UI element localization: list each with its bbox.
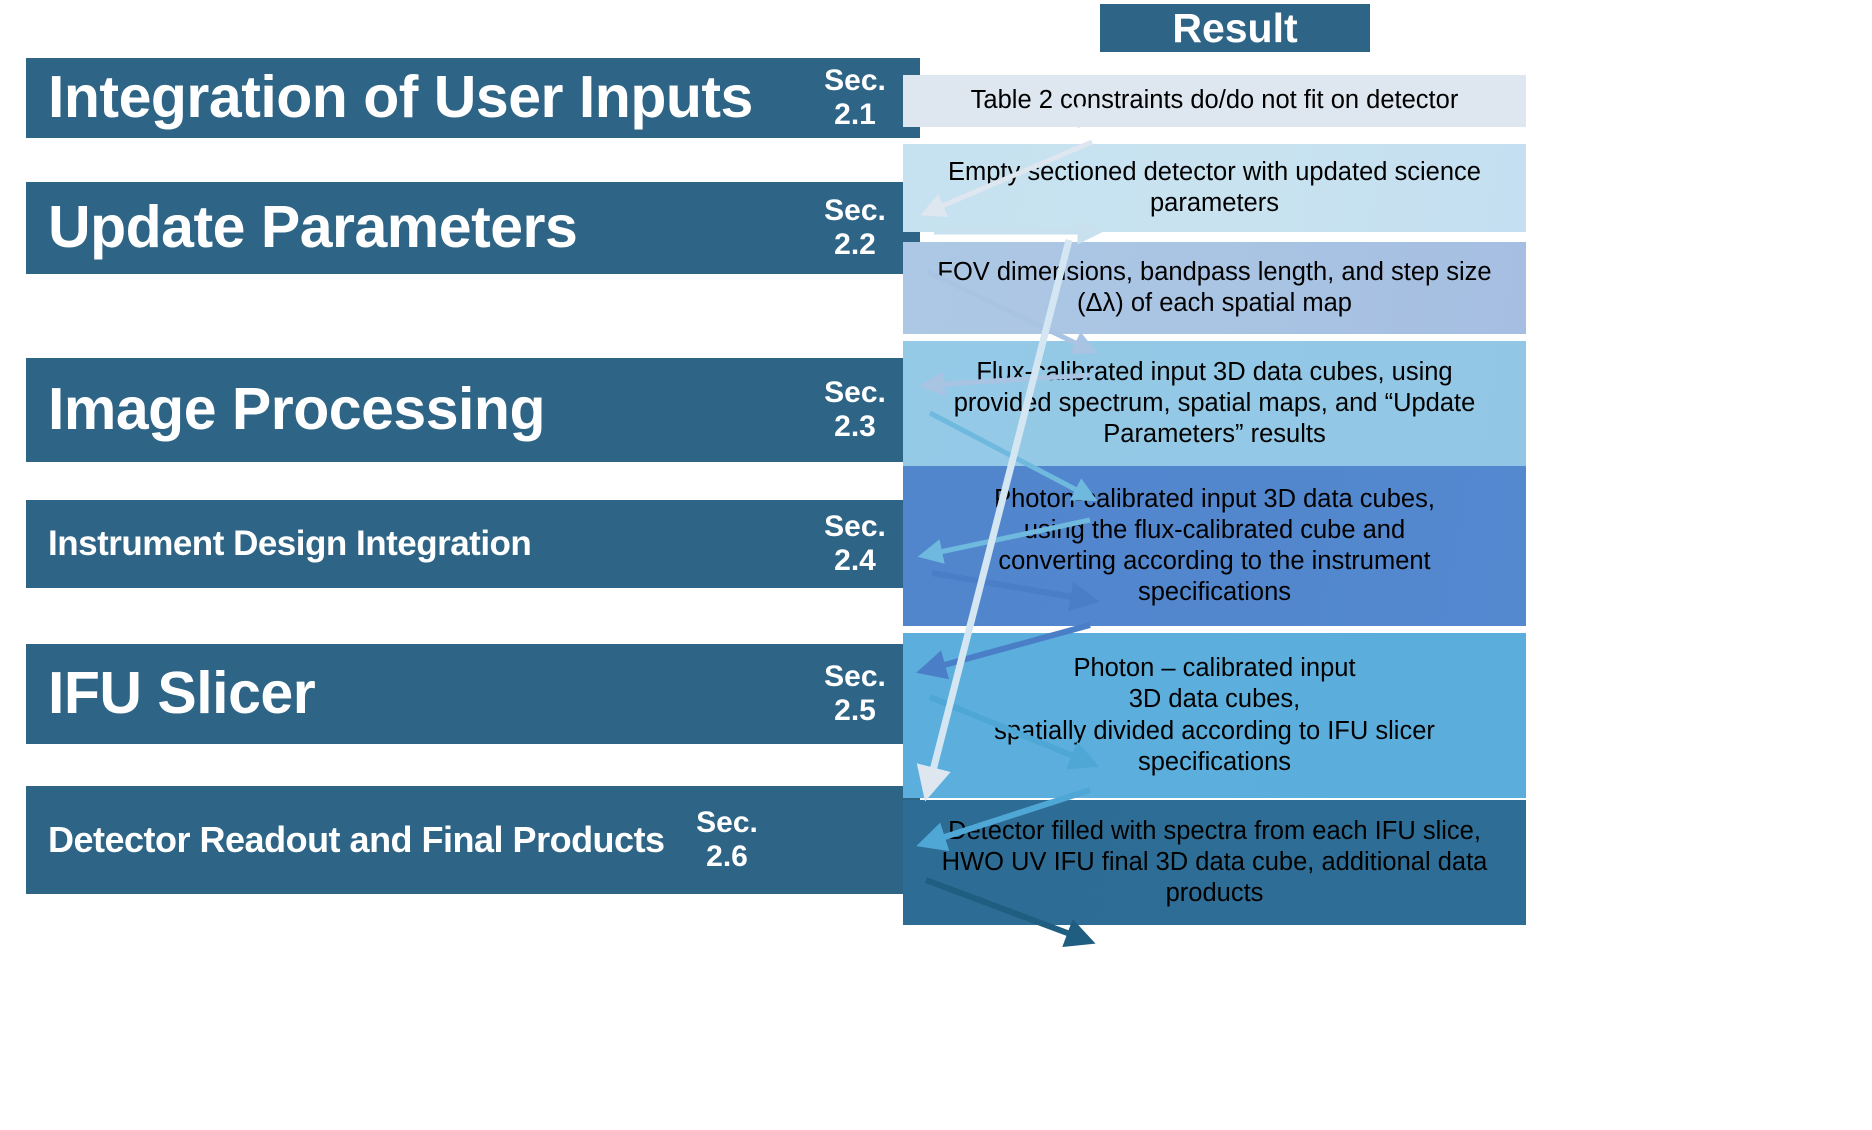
section-word: Sec. bbox=[824, 510, 886, 544]
result-column-header: Result bbox=[1100, 4, 1370, 52]
section-word: Sec. bbox=[696, 806, 758, 840]
result-text: Empty sectioned detector with updated sc… bbox=[948, 157, 1481, 219]
result-line: provided spectrum, spatial maps, and “Up… bbox=[954, 388, 1476, 419]
stage-box-integration-of-user-inputs[interactable]: Integration of User Inputs Sec. 2.1 bbox=[26, 58, 920, 138]
result-box-photon-calibrated-cubes: Photon-calibrated input 3D data cubes, u… bbox=[903, 466, 1526, 626]
section-word: Sec. bbox=[824, 660, 886, 694]
stage-section-number: Sec. 2.4 bbox=[796, 500, 920, 588]
result-text: Flux-calibrated input 3D data cubes, usi… bbox=[954, 357, 1476, 450]
stage-section-number: Sec. 2.3 bbox=[796, 358, 920, 462]
result-text: Photon – calibrated input 3D data cubes,… bbox=[994, 653, 1435, 777]
diagram-canvas: Integration of User Inputs Sec. 2.1 Upda… bbox=[0, 0, 1872, 1130]
stage-label: Image Processing bbox=[26, 358, 796, 462]
section-word: Sec. bbox=[824, 64, 886, 98]
stage-box-ifu-slicer[interactable]: IFU Slicer Sec. 2.5 bbox=[26, 644, 920, 744]
result-box-fov-dimensions: FOV dimensions, bandpass length, and ste… bbox=[903, 242, 1526, 334]
section-value: 2.3 bbox=[834, 410, 876, 444]
stage-label: Detector Readout and Final Products bbox=[26, 786, 668, 894]
result-line: specifications bbox=[994, 747, 1435, 778]
stage-label: Instrument Design Integration bbox=[26, 500, 796, 588]
result-line: parameters bbox=[948, 188, 1481, 219]
result-box-empty-sectioned-detector: Empty sectioned detector with updated sc… bbox=[903, 144, 1526, 232]
result-line: converting according to the instrument bbox=[994, 546, 1435, 577]
stage-label: IFU Slicer bbox=[26, 644, 796, 744]
result-line: using the flux-calibrated cube and bbox=[994, 515, 1435, 546]
result-line: (Δλ) of each spatial map bbox=[937, 288, 1491, 319]
result-line: products bbox=[942, 878, 1488, 909]
result-line: Photon – calibrated input bbox=[994, 653, 1435, 684]
result-text: FOV dimensions, bandpass length, and ste… bbox=[937, 257, 1491, 319]
stage-box-instrument-design-integration[interactable]: Instrument Design Integration Sec. 2.4 bbox=[26, 500, 920, 588]
stage-box-detector-readout-and-final-products[interactable]: Detector Readout and Final Products Sec.… bbox=[26, 786, 920, 894]
stage-label: Integration of User Inputs bbox=[26, 58, 796, 138]
result-line: HWO UV IFU final 3D data cube, additiona… bbox=[942, 847, 1488, 878]
result-box-detector-filled-final-products: Detector filled with spectra from each I… bbox=[903, 800, 1526, 925]
result-line: Photon-calibrated input 3D data cubes, bbox=[994, 484, 1435, 515]
result-box-photon-calibrated-ifu-sliced: Photon – calibrated input 3D data cubes,… bbox=[903, 633, 1526, 798]
result-box-flux-calibrated-cubes: Flux-calibrated input 3D data cubes, usi… bbox=[903, 341, 1526, 466]
result-line: Empty sectioned detector with updated sc… bbox=[948, 157, 1481, 188]
section-value: 2.2 bbox=[834, 228, 876, 262]
stage-box-update-parameters[interactable]: Update Parameters Sec. 2.2 bbox=[26, 182, 920, 274]
result-line: specifications bbox=[994, 577, 1435, 608]
result-line: Parameters” results bbox=[954, 419, 1476, 450]
result-line: spatially divided according to IFU slice… bbox=[994, 716, 1435, 747]
section-value: 2.5 bbox=[834, 694, 876, 728]
section-value: 2.4 bbox=[834, 544, 876, 578]
result-line: FOV dimensions, bandpass length, and ste… bbox=[937, 257, 1491, 288]
result-text: Table 2 constraints do/do not fit on det… bbox=[971, 85, 1459, 116]
stage-section-number: Sec. 2.2 bbox=[796, 182, 920, 274]
result-line: Detector filled with spectra from each I… bbox=[942, 816, 1488, 847]
section-word: Sec. bbox=[824, 194, 886, 228]
result-line: Flux-calibrated input 3D data cubes, usi… bbox=[954, 357, 1476, 388]
stage-section-number: Sec. 2.5 bbox=[796, 644, 920, 744]
result-line: 3D data cubes, bbox=[994, 684, 1435, 715]
section-word: Sec. bbox=[824, 376, 886, 410]
result-line: Table 2 constraints do/do not fit on det… bbox=[971, 85, 1459, 116]
section-value: 2.1 bbox=[834, 98, 876, 132]
result-text: Detector filled with spectra from each I… bbox=[942, 816, 1488, 909]
stage-label: Update Parameters bbox=[26, 182, 796, 274]
section-value: 2.6 bbox=[706, 840, 748, 874]
stage-box-image-processing[interactable]: Image Processing Sec. 2.3 bbox=[26, 358, 920, 462]
result-box-table2-constraints: Table 2 constraints do/do not fit on det… bbox=[903, 75, 1526, 127]
stage-section-number: Sec. 2.1 bbox=[796, 58, 920, 138]
result-text: Photon-calibrated input 3D data cubes, u… bbox=[994, 484, 1435, 608]
stage-section-number: Sec. 2.6 bbox=[668, 786, 792, 894]
